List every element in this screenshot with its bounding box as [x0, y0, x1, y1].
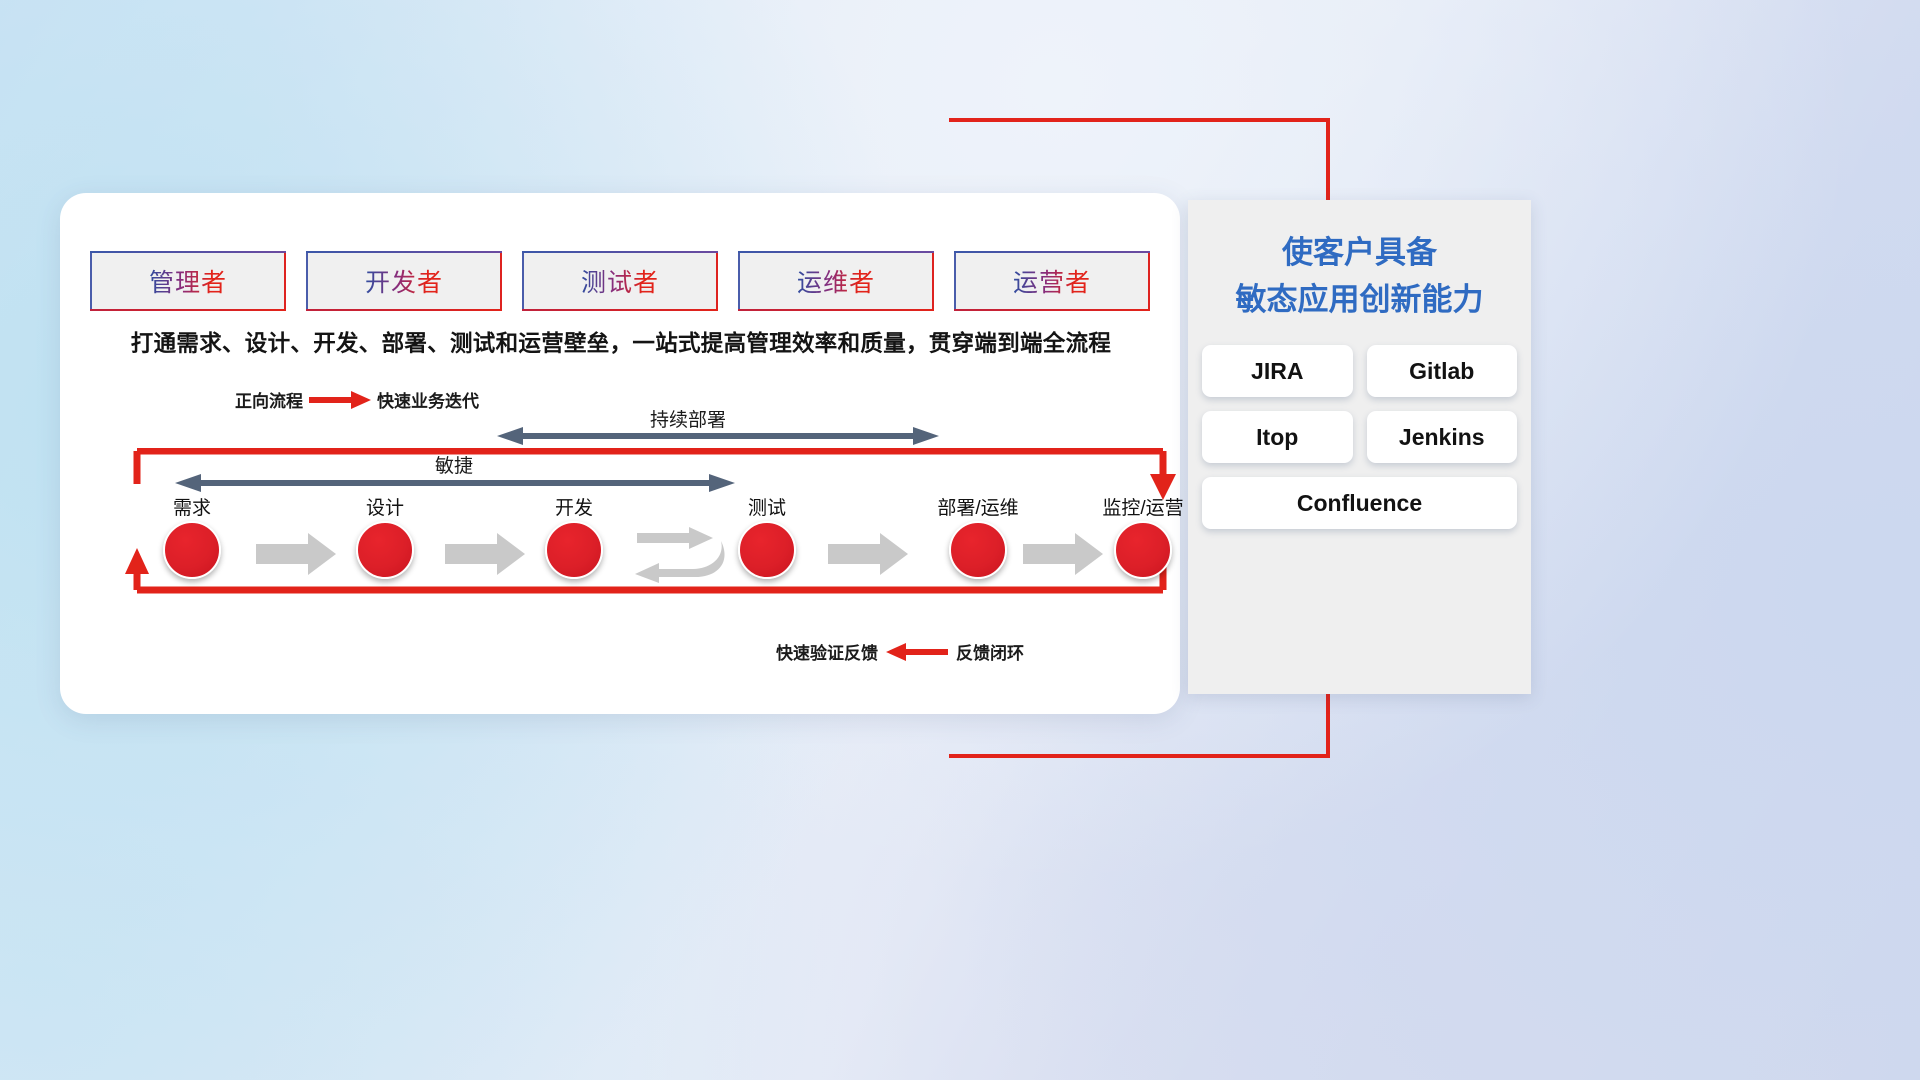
- stage-label: 需求: [173, 493, 211, 520]
- stage-dot: [1114, 521, 1172, 579]
- role-box-developer[interactable]: 开发者: [306, 251, 502, 311]
- stage-label: 开发: [555, 493, 593, 520]
- pipeline-row: 需求 设计 开发 测试 部署/运维: [60, 493, 1180, 633]
- tool-chip-jenkins[interactable]: Jenkins: [1367, 411, 1518, 463]
- gray-right-arrow-icon: [1023, 533, 1103, 575]
- stage-dot: [949, 521, 1007, 579]
- gray-right-arrow-icon: [445, 533, 525, 575]
- stage-label: 测试: [748, 493, 786, 520]
- red-left-arrow-icon: [886, 643, 948, 661]
- stage-label: 监控/运营: [1102, 493, 1183, 520]
- tools-panel-title-line2: 敏态应用创新能力: [1188, 277, 1531, 324]
- role-label: 开发者: [365, 263, 443, 299]
- legend-feedback-loop: 快速验证反馈 反馈闭环: [776, 639, 1024, 664]
- stage-label: 部署/运维: [937, 493, 1018, 520]
- tools-panel-title-line1: 使客户具备: [1188, 230, 1531, 277]
- main-diagram-card: 管理者 开发者 测试者 运维者 运营者 打通需求、设计、开发、部署、测试和运营壁…: [60, 193, 1180, 714]
- stage-label: 设计: [366, 493, 404, 520]
- role-box-manager[interactable]: 管理者: [90, 251, 286, 311]
- continuous-deployment-double-arrow-icon: [497, 426, 939, 446]
- tool-chip-gitlab[interactable]: Gitlab: [1367, 345, 1518, 397]
- role-label: 测试者: [581, 263, 659, 299]
- legend-forward-target-label: 快速业务迭代: [377, 387, 479, 412]
- role-label: 运营者: [1013, 263, 1091, 299]
- gray-right-arrow-icon: [256, 533, 336, 575]
- stage-dot: [356, 521, 414, 579]
- tool-chip-jira[interactable]: JIRA: [1202, 345, 1353, 397]
- stage-dot: [545, 521, 603, 579]
- role-box-tester[interactable]: 测试者: [522, 251, 718, 311]
- stage-dot: [738, 521, 796, 579]
- legend-feedback-target-label: 快速验证反馈: [776, 639, 878, 664]
- role-label: 管理者: [149, 263, 227, 299]
- role-label: 运维者: [797, 263, 875, 299]
- stage-dot: [163, 521, 221, 579]
- legend-forward-flow: 正向流程 快速业务迭代: [235, 387, 479, 412]
- legend-feedback-source-label: 反馈闭环: [956, 639, 1024, 664]
- role-box-operations[interactable]: 运营者: [954, 251, 1150, 311]
- role-box-ops[interactable]: 运维者: [738, 251, 934, 311]
- role-box-row: 管理者 开发者 测试者 运维者 运营者: [90, 251, 1150, 311]
- tools-panel-title: 使客户具备 敏态应用创新能力: [1188, 230, 1531, 323]
- tool-chip-itop[interactable]: Itop: [1202, 411, 1353, 463]
- gray-right-arrow-icon: [828, 533, 908, 575]
- headline-text: 打通需求、设计、开发、部署、测试和运营壁垒，一站式提高管理效率和质量，贯穿端到端…: [106, 326, 1136, 358]
- tool-chip-confluence[interactable]: Confluence: [1202, 477, 1517, 529]
- red-right-arrow-icon: [309, 391, 371, 409]
- iteration-loop-icon: [633, 523, 725, 583]
- tools-grid: JIRA Gitlab Itop Jenkins Confluence: [1202, 345, 1517, 529]
- tools-panel: 使客户具备 敏态应用创新能力 JIRA Gitlab Itop Jenkins …: [1188, 200, 1531, 694]
- legend-forward-source-label: 正向流程: [235, 387, 303, 412]
